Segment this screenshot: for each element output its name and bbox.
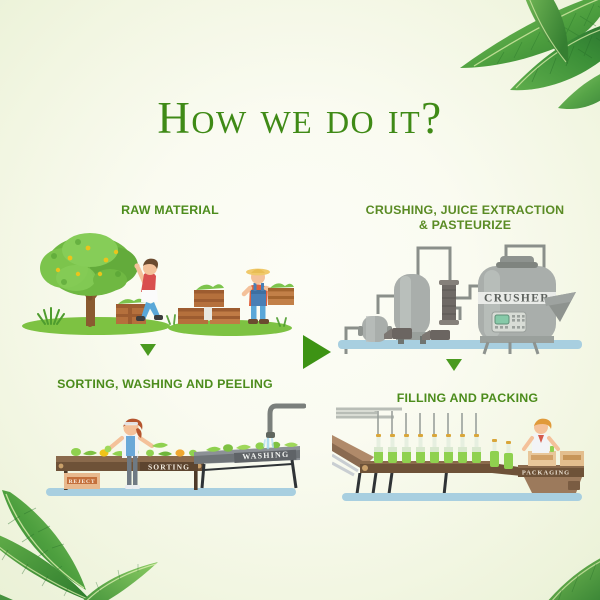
reject-label: REJECT <box>69 479 96 485</box>
section-label-raw-material: RAW MATERIAL <box>40 203 300 218</box>
bottle-icon <box>490 439 499 467</box>
illustration-sorting-washing: SORTING <box>28 400 306 500</box>
bottle-icon <box>504 441 513 469</box>
arrow-down-icon <box>444 357 464 373</box>
bottle-icon <box>416 434 425 463</box>
factory-floor <box>46 488 296 496</box>
bottle-icon <box>374 434 383 463</box>
leaf-icon <box>2 490 86 590</box>
bottle-icon <box>402 434 411 463</box>
crate-stack-icon <box>178 284 240 324</box>
leaf-icon <box>0 586 50 600</box>
ground-left <box>22 317 170 335</box>
illustration-crushing-machinery: CRUSHER <box>338 236 586 356</box>
produce-in-hand-icon <box>152 443 168 448</box>
bottle-icon <box>430 434 439 463</box>
person-farmer-icon <box>244 269 294 324</box>
fruit-in-hand-icon <box>105 446 112 453</box>
cardboard-box-icon <box>560 451 584 466</box>
bottom-right-leaf-decoration <box>508 520 600 600</box>
leaf-icon <box>72 562 158 600</box>
section-label-filling: FILLING AND PACKING <box>345 391 590 406</box>
arrow-down-icon <box>138 342 158 358</box>
water-spray-icon <box>264 439 273 448</box>
leaf-icon <box>542 550 600 600</box>
crate-icon <box>268 283 294 305</box>
page-title: How we do it? <box>0 95 600 141</box>
illustration-filling-packing: PACKAGING <box>332 405 590 505</box>
packaging-table-icon: PACKAGING <box>518 465 584 493</box>
leaf-icon <box>460 0 600 68</box>
leaf-icon <box>520 0 568 64</box>
infographic-canvas: How we do it? RAW MATERIAL CRUSHING, JUI… <box>0 0 600 600</box>
heat-exchanger-icon <box>439 280 459 325</box>
section-label-crushing-line1: CRUSHING, JUICE EXTRACTION <box>340 203 590 218</box>
crusher-vessel-icon: CRUSHER <box>478 256 556 354</box>
bottle-icon <box>388 434 397 463</box>
reject-box-icon: REJECT <box>64 473 100 489</box>
packaging-label: PACKAGING <box>522 469 570 476</box>
factory-floor <box>342 493 582 501</box>
pump-icon <box>422 330 450 340</box>
sorting-label: SORTING <box>148 463 190 472</box>
washing-conveyor-icon: WASHING <box>194 406 304 488</box>
control-panel-icon <box>492 312 526 332</box>
water-pipe-icon <box>266 406 304 438</box>
section-label-crushing-line2: & PASTEURIZE <box>340 218 590 233</box>
section-label-crushing: CRUSHING, JUICE EXTRACTION & PASTEURIZE <box>340 203 590 233</box>
section-label-sorting: SORTING, WASHING AND PEELING <box>20 377 310 392</box>
leaf-icon <box>0 530 92 600</box>
illustration-raw-material <box>18 228 298 338</box>
filler-nozzle-rods <box>378 411 476 435</box>
crusher-label: CRUSHER <box>484 293 550 305</box>
bottle-icon <box>458 434 467 463</box>
bottle-icon <box>444 434 453 463</box>
leaf-icon <box>510 22 600 90</box>
arrow-right-icon <box>300 333 334 371</box>
bottle-icon <box>472 434 481 463</box>
